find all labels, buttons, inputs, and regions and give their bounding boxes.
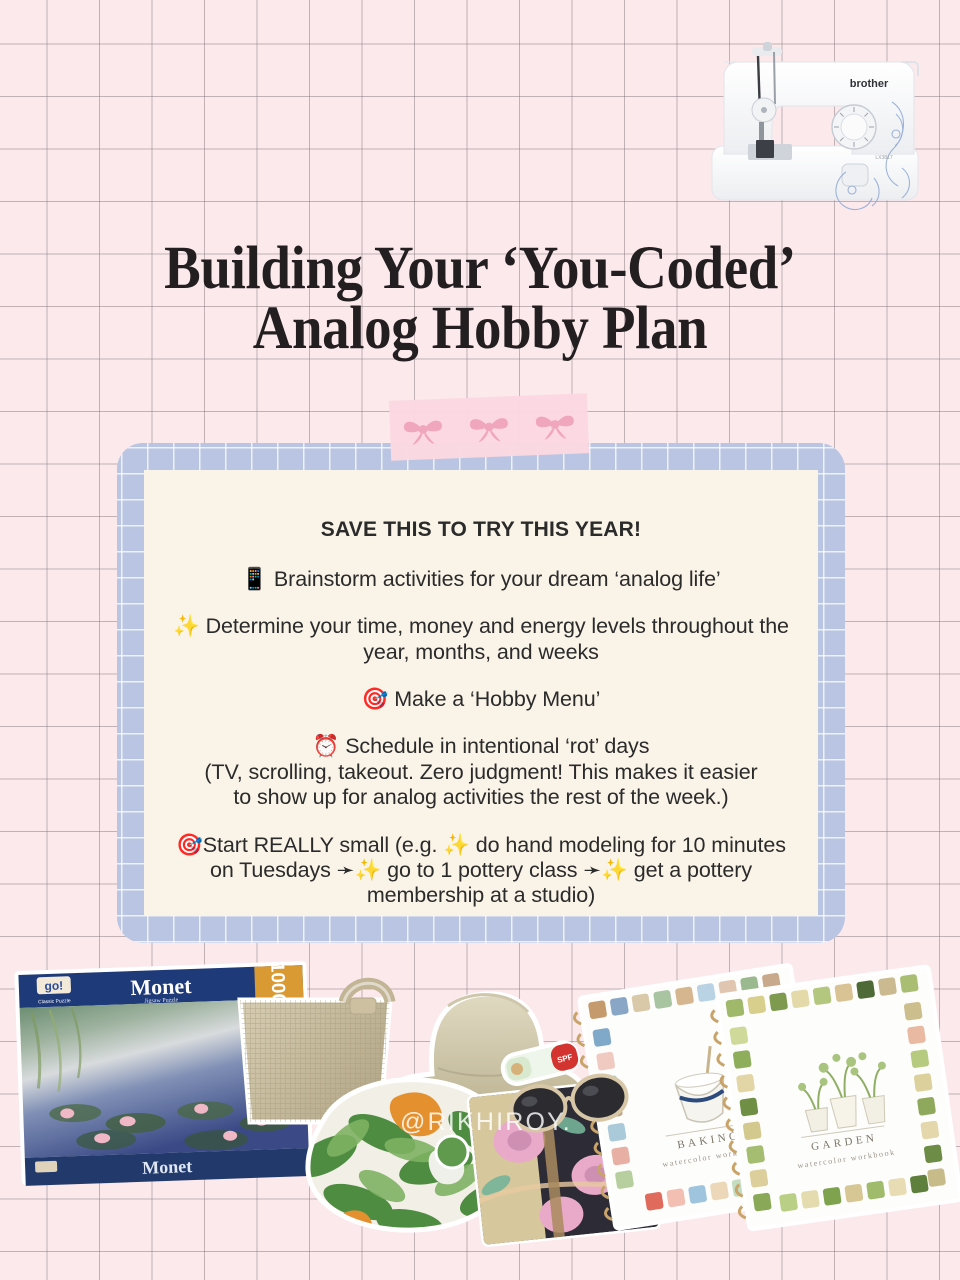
arrow-right-icon: ➛ — [337, 858, 355, 883]
dart-target-emoji: 🎯 — [176, 833, 203, 858]
sparkles-emoji: ✨ — [173, 614, 200, 639]
bullet-rot-days-text: Schedule in intentional ‘rot’ days — [345, 734, 649, 758]
card-content: SAVE THIS TO TRY THIS YEAR! 📱 Brainstorm… — [144, 470, 818, 916]
bullet-determine-text: Determine your time, money and energy le… — [206, 614, 789, 663]
puzzle-brand: go! — [44, 978, 63, 993]
puzzle-title: Monet — [130, 973, 193, 1000]
bow-icon — [532, 407, 577, 443]
bullet-hobby-menu: 🎯 Make a ‘Hobby Menu’ — [168, 687, 794, 712]
bullet-start-small: 🎯Start REALLY small (e.g. ✨ do hand mode… — [168, 833, 794, 909]
bullet-brainstorm-text: Brainstorm activities for your dream ‘an… — [274, 567, 721, 591]
bullet-hobby-menu-text: Make a ‘Hobby Menu’ — [394, 687, 600, 711]
hobby-plan-card: SAVE THIS TO TRY THIS YEAR! 📱 Brainstorm… — [117, 443, 845, 943]
garden-watercolor-workbook-photo: GARDEN watercolor workbook — [702, 957, 960, 1240]
bullet-rot-days: ⏰ Schedule in intentional ‘rot’ days (TV… — [168, 734, 794, 810]
bullet-brainstorm: 📱 Brainstorm activities for your dream ‘… — [168, 567, 794, 592]
bow-washi-tape — [389, 393, 589, 461]
card-heading: SAVE THIS TO TRY THIS YEAR! — [168, 518, 794, 542]
puzzle-brand-tagline: Classic Puzzle — [38, 998, 71, 1005]
sparkles-emoji: ✨ — [355, 858, 382, 883]
bow-icon — [400, 412, 445, 448]
bullet-rot-days-line-3: to show up for analog activities the res… — [168, 785, 794, 810]
arrow-right-icon: ➛ — [583, 858, 601, 883]
bullet-rot-days-line-2: (TV, scrolling, takeout. Zero judgment! … — [168, 760, 794, 785]
bow-icon — [466, 409, 511, 445]
bullet-start-small-text-a: Start REALLY small (e.g. — [203, 833, 443, 857]
puzzle-spine-title: Monet — [142, 1156, 193, 1178]
bullet-rot-days-line-1: ⏰ Schedule in intentional ‘rot’ days — [168, 734, 794, 759]
title-line-2: Analog Hobby Plan — [48, 299, 912, 359]
sewing-machine-photo: brother LX3817 — [706, 22, 926, 212]
page-title: Building Your ‘You-Coded’ Analog Hobby P… — [48, 239, 912, 359]
bullet-start-small-text-c: go to 1 pottery class — [381, 858, 583, 882]
mobile-phone-emoji: 📱 — [241, 567, 268, 592]
watermark: @RIKHIROY. — [400, 1108, 572, 1137]
sewing-machine-model: LX3817 — [875, 155, 892, 161]
sewing-machine-brand: brother — [850, 78, 889, 90]
alarm-clock-emoji: ⏰ — [313, 734, 340, 759]
sparkles-emoji: ✨ — [443, 833, 470, 858]
title-line-1: Building Your ‘You-Coded’ — [48, 239, 912, 299]
sparkles-emoji: ✨ — [601, 858, 628, 883]
bullet-determine: ✨ Determine your time, money and energy … — [168, 614, 794, 665]
dart-target-emoji: 🎯 — [362, 687, 389, 712]
